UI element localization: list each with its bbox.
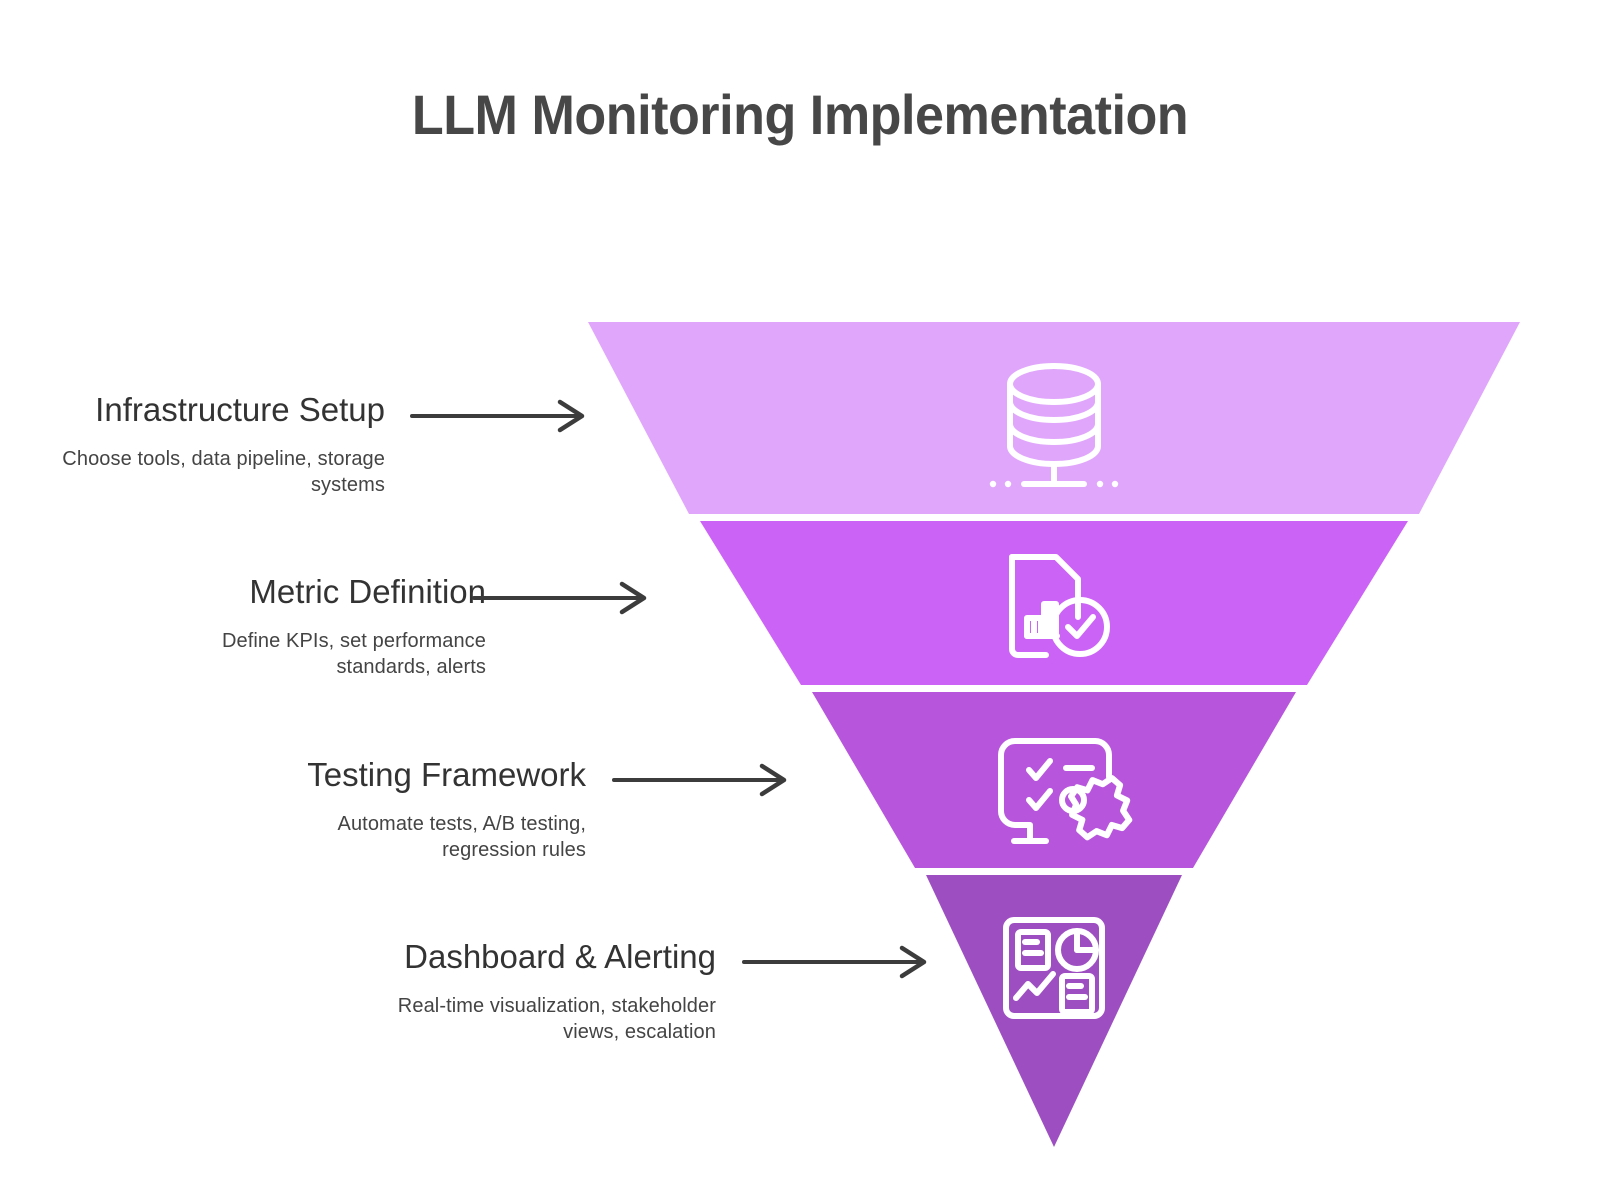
stage-label-infrastructure-setup[interactable]: Infrastructure Setup Choose tools, data … bbox=[40, 390, 385, 498]
stage-arrow-3 bbox=[612, 762, 802, 802]
stage-arrow-2 bbox=[472, 580, 662, 620]
checklist-gear-screen-icon bbox=[1001, 741, 1129, 841]
stage-arrow-1 bbox=[410, 398, 600, 438]
funnel-band-1[interactable] bbox=[588, 322, 1520, 514]
stage-description-3: Automate tests, A/B testing, regression … bbox=[240, 811, 586, 864]
dashboard-panels-icon bbox=[1006, 920, 1102, 1016]
stage-description-2: Define KPIs, set performance standards, … bbox=[140, 628, 486, 681]
stage-title-3: Testing Framework bbox=[240, 755, 586, 795]
stage-description-1: Choose tools, data pipeline, storage sys… bbox=[40, 446, 385, 499]
stage-label-dashboard-alerting[interactable]: Dashboard & Alerting Real-time visualiza… bbox=[340, 937, 716, 1045]
funnel-band-4[interactable] bbox=[926, 875, 1182, 1147]
funnel-band-3[interactable] bbox=[812, 692, 1296, 868]
stage-title-1: Infrastructure Setup bbox=[40, 390, 385, 430]
page-title: LLM Monitoring Implementation bbox=[56, 82, 1544, 147]
stage-label-testing-framework[interactable]: Testing Framework Automate tests, A/B te… bbox=[240, 755, 586, 863]
document-chart-check-icon bbox=[1012, 557, 1107, 655]
funnel-band-2[interactable] bbox=[700, 521, 1408, 685]
stage-title-4: Dashboard & Alerting bbox=[340, 937, 716, 977]
stage-description-4: Real-time visualization, stakeholder vie… bbox=[340, 993, 716, 1046]
database-stack-icon bbox=[990, 366, 1118, 487]
infographic-canvas: LLM Monitoring Implementation bbox=[0, 0, 1600, 1195]
stage-title-2: Metric Definition bbox=[140, 572, 486, 612]
stage-arrow-4 bbox=[742, 944, 942, 984]
stage-label-metric-definition[interactable]: Metric Definition Define KPIs, set perfo… bbox=[140, 572, 486, 680]
